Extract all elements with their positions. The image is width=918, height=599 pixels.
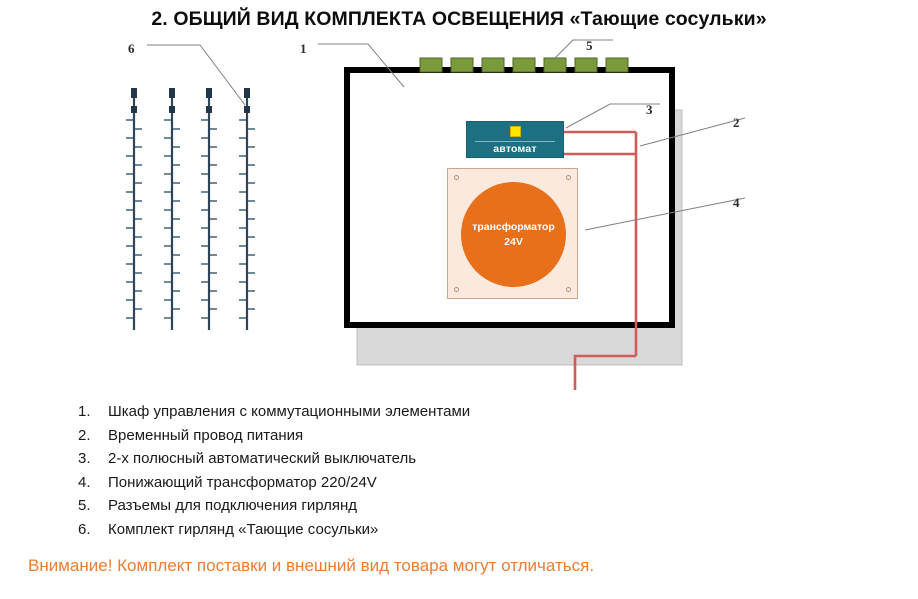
callout-3: 3 (646, 102, 653, 118)
garland-strand[interactable] (239, 88, 255, 330)
list-item-index: 2. (78, 424, 108, 448)
list-item-index: 1. (78, 400, 108, 424)
connector-block[interactable] (575, 58, 597, 72)
connector-block[interactable] (606, 58, 628, 72)
list-item: 2. Временный провод питания (78, 424, 698, 448)
list-item-index: 6. (78, 518, 108, 542)
list-item-index: 4. (78, 471, 108, 495)
list-item-label: Комплект гирлянд «Тающие сосульки» (108, 518, 378, 542)
callout-6: 6 (128, 41, 135, 57)
list-item: 1. Шкаф управления с коммутационными эле… (78, 400, 698, 424)
list-item-index: 5. (78, 494, 108, 518)
screw-hole-icon (566, 287, 571, 292)
list-item-index: 3. (78, 447, 108, 471)
breaker-toggle-icon[interactable] (510, 126, 521, 137)
transformer-label-line2: 24V (504, 235, 523, 249)
legend-list: 1. Шкаф управления с коммутационными эле… (78, 400, 698, 541)
leader-5 (555, 40, 613, 58)
warning-text: Внимание! Комплект поставки и внешний ви… (28, 556, 594, 576)
connector-block[interactable] (513, 58, 535, 72)
screw-hole-icon (566, 175, 571, 180)
connector-block[interactable] (420, 58, 442, 72)
list-item: 4. Понижающий трансформатор 220/24V (78, 471, 698, 495)
connector-group (420, 58, 628, 72)
list-item-label: Шкаф управления с коммутационными элемен… (108, 400, 470, 424)
transformer-plate[interactable]: трансформатор 24V (447, 168, 578, 299)
callout-4: 4 (733, 195, 740, 211)
transformer-core: трансформатор 24V (461, 182, 566, 287)
assembly-diagram: автомат трансформатор 24V 6 1 5 3 2 4 (0, 30, 918, 390)
list-item-label: Понижающий трансформатор 220/24V (108, 471, 377, 495)
garland-strand[interactable] (164, 88, 180, 330)
page-title: 2. ОБЩИЙ ВИД КОМПЛЕКТА ОСВЕЩЕНИЯ «Тающие… (0, 8, 918, 31)
garland-strand[interactable] (126, 88, 142, 330)
connector-block[interactable] (451, 58, 473, 72)
screw-hole-icon (454, 175, 459, 180)
callout-5: 5 (586, 38, 593, 54)
garland-strand[interactable] (201, 88, 217, 330)
list-item: 3. 2-х полюсный автоматический выключате… (78, 447, 698, 471)
connector-block[interactable] (544, 58, 566, 72)
leader-6 (147, 45, 245, 105)
breaker-divider (475, 141, 556, 142)
list-item: 5. Разъемы для подключения гирлянд (78, 494, 698, 518)
garland-set (126, 88, 255, 330)
callout-2: 2 (733, 115, 740, 131)
screw-hole-icon (454, 287, 459, 292)
list-item-label: 2-х полюсный автоматический выключатель (108, 447, 416, 471)
list-item-label: Разъемы для подключения гирлянд (108, 494, 357, 518)
list-item: 6. Комплект гирлянд «Тающие сосульки» (78, 518, 698, 542)
list-item-label: Временный провод питания (108, 424, 303, 448)
callout-1: 1 (300, 41, 307, 57)
transformer-label-line1: трансформатор (472, 220, 555, 234)
breaker-label: автомат (493, 143, 536, 155)
circuit-breaker[interactable]: автомат (466, 121, 564, 158)
connector-block[interactable] (482, 58, 504, 72)
